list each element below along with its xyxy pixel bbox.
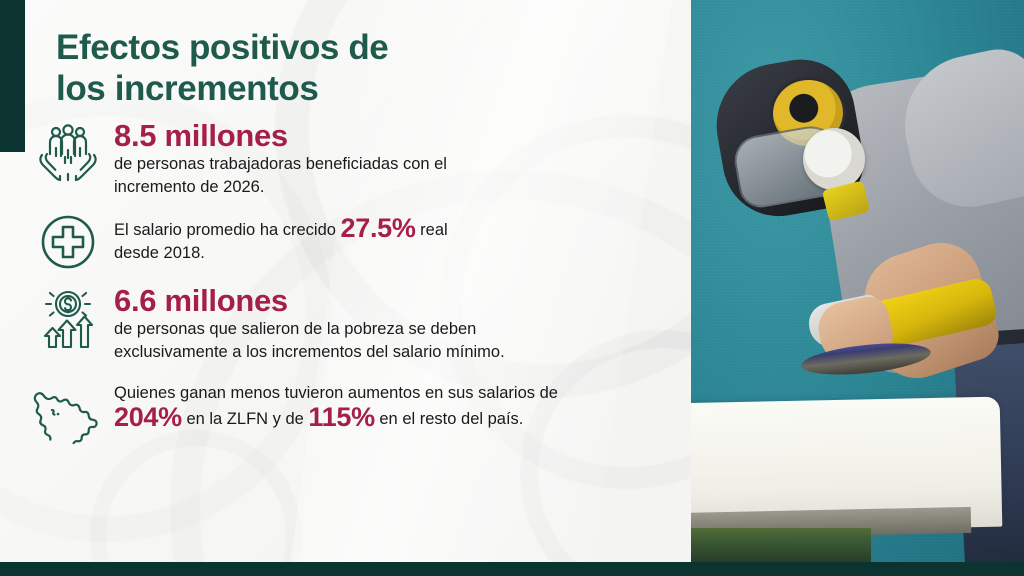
page-title-line-2: los incrementos	[56, 69, 526, 110]
stat-body-line-1: de personas que salieron de la pobreza s…	[114, 320, 476, 338]
list-item-text: El salario promedio ha crecido 27.5% rea…	[114, 213, 448, 265]
stat-body: de personas que salieron de la pobreza s…	[114, 318, 505, 364]
stat-body-line-2: incremento de 2026.	[114, 178, 264, 196]
stat-value: 27.5%	[341, 213, 416, 243]
stat-body-line-2: desde 2018.	[114, 244, 205, 262]
bottom-accent-bar	[0, 562, 1024, 576]
hands-holding-people-icon	[22, 118, 114, 182]
stat-trail-text: real	[416, 221, 448, 239]
list-item: Quienes ganan menos tuvieron aumentos en…	[22, 380, 682, 444]
stat-headline: 8.5 millones	[114, 120, 447, 152]
stat-body-line-1: Quienes ganan menos tuvieron aumentos en…	[114, 384, 558, 402]
list-item: 6.6 millones de personas que salieron de…	[22, 283, 682, 364]
list-item-text: Quienes ganan menos tuvieron aumentos en…	[114, 380, 558, 432]
list-item: 8.5 millones de personas trabajadoras be…	[22, 118, 682, 199]
content-column: Efectos positivos de los incrementos	[0, 0, 691, 576]
worker-photo	[691, 0, 1024, 562]
stat-body: Quienes ganan menos tuvieron aumentos en…	[114, 382, 558, 432]
mexico-map-icon	[22, 380, 114, 444]
stat-body-line-1: de personas trabajadoras beneficiadas co…	[114, 155, 447, 173]
stat-body: de personas trabajadoras beneficiadas co…	[114, 153, 447, 199]
stat-value-2: 115%	[308, 402, 374, 432]
stat-lead-text: El salario promedio ha crecido	[114, 221, 341, 239]
stat-mid-text-2: en el resto del país.	[375, 410, 524, 428]
medical-cross-circle-icon	[22, 213, 114, 271]
stat-mid-text-1: en la ZLFN y de	[182, 410, 309, 428]
list-item: El salario promedio ha crecido 27.5% rea…	[22, 213, 682, 271]
page-title-line-1: Efectos positivos de	[56, 28, 526, 69]
list-item-text: 8.5 millones de personas trabajadoras be…	[114, 118, 447, 199]
stat-body-line-2: exclusivamente a los incrementos del sal…	[114, 343, 505, 361]
stat-headline: 6.6 millones	[114, 285, 505, 317]
photo-foreground-foliage	[691, 528, 871, 562]
stat-body: El salario promedio ha crecido 27.5% rea…	[114, 215, 448, 265]
stats-list: 8.5 millones de personas trabajadoras be…	[22, 118, 682, 450]
slide-root: Efectos positivos de los incrementos	[0, 0, 1024, 576]
page-title: Efectos positivos de los incrementos	[56, 28, 526, 109]
list-item-text: 6.6 millones de personas que salieron de…	[114, 283, 505, 364]
money-growth-arrows-icon	[22, 283, 114, 349]
stat-value-1: 204%	[114, 402, 182, 432]
